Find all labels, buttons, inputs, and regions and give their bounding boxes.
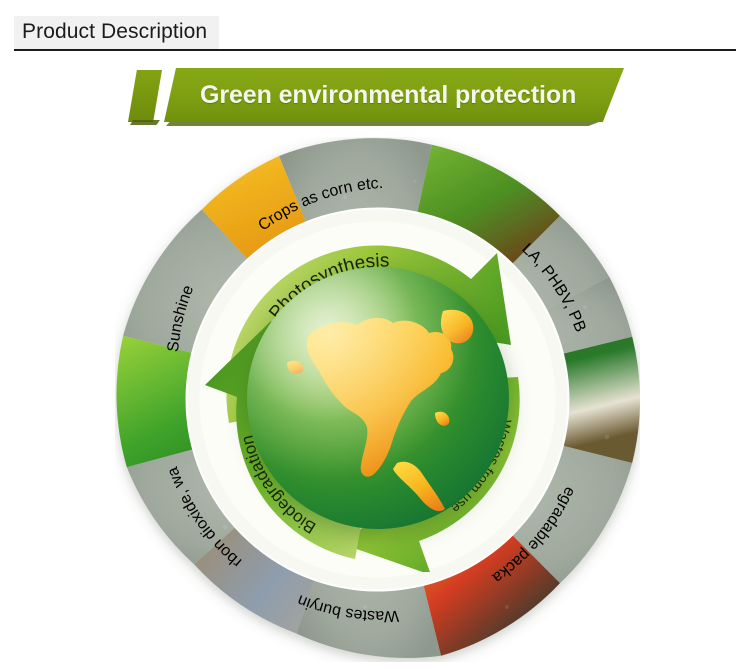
banner-title: Green environmental protection — [200, 81, 576, 110]
banner-left-tab — [128, 70, 162, 122]
green-lifecycle-wheel: Crops as corn etc. PLA, PHBV, PBS Starch… — [115, 137, 640, 662]
section-header: Product Description — [0, 0, 750, 50]
page-title: Product Description — [14, 16, 219, 50]
green-banner: Green environmental protection — [128, 66, 628, 128]
header-divider — [14, 49, 736, 51]
banner-body: Green environmental protection — [164, 68, 624, 122]
globe-landmass — [247, 267, 509, 529]
earth-globe — [247, 267, 509, 529]
banner-left-tab-shadow — [130, 120, 160, 125]
